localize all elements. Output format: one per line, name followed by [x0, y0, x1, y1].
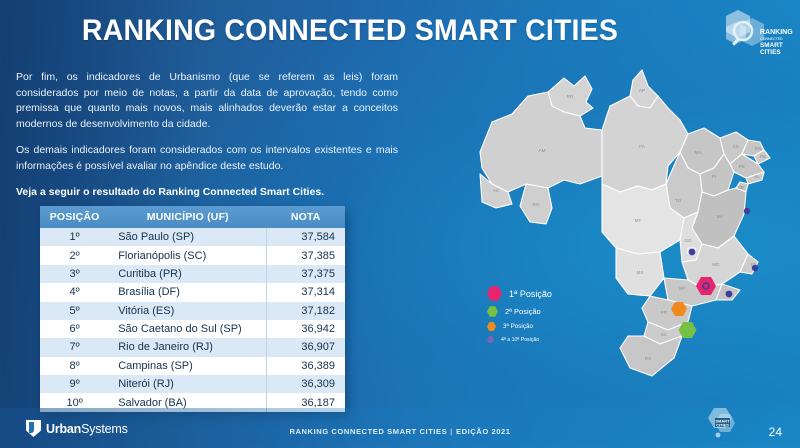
svg-text:RS: RS	[645, 356, 651, 361]
cell-municipio: Brasília (DF)	[109, 283, 266, 301]
smart-cities-badge: SMART CITIES	[702, 404, 742, 444]
table-row: 4ºBrasília (DF)37,314	[40, 283, 345, 301]
svg-text:MG: MG	[712, 262, 720, 267]
paragraph-1: Por fim, os indicadores de Urbanismo (qu…	[16, 70, 398, 132]
header-logo-line3: SMART	[760, 42, 783, 49]
cell-municipio: São Caetano do Sul (SP)	[109, 320, 266, 338]
cell-posicao: 6º	[40, 320, 109, 338]
cell-posicao: 9º	[40, 375, 109, 393]
legend-marker-icon	[487, 336, 494, 343]
cell-nota: 37,182	[266, 302, 345, 320]
legend-item: 4ª a 10ª Posição	[487, 336, 552, 343]
svg-text:PI: PI	[712, 174, 716, 179]
legend-item: 1ª Posição	[487, 286, 552, 301]
svg-text:PE: PE	[739, 164, 745, 169]
column-header-posicao: POSIÇÃO	[40, 206, 109, 228]
slide-root: RANKING CONNECTED SMART CITIES RANKING C…	[0, 0, 800, 448]
table-row: 6ºSão Caetano do Sul (SP)36,942	[40, 320, 345, 338]
cell-nota: 37,314	[266, 283, 345, 301]
brazil-map: RRAP AMPA MACE RNPB PEAL SEPI TOAC ROMT …	[452, 56, 800, 406]
legend-item: 3ª Posição	[487, 322, 552, 331]
table-row: 5ºVitória (ES)37,182	[40, 302, 345, 320]
table-row: 1ºSão Paulo (SP)37,584	[40, 228, 345, 246]
map-legend: 1ª Posição2ª Posição3ª Posição4ª a 10ª P…	[487, 286, 552, 348]
cell-municipio: São Paulo (SP)	[109, 228, 266, 246]
cell-nota: 37,385	[266, 246, 345, 264]
svg-text:MT: MT	[635, 218, 642, 223]
legend-label: 1ª Posição	[509, 289, 552, 299]
legend-marker-icon	[487, 322, 496, 331]
svg-text:PR: PR	[661, 310, 668, 315]
cell-nota: 36,309	[266, 375, 345, 393]
table-header-row: POSIÇÃO MUNICÍPIO (UF) NOTA	[40, 206, 345, 228]
table-row: 7ºRio de Janeiro (RJ)36,907	[40, 338, 345, 356]
svg-text:RR: RR	[567, 94, 574, 99]
footer-edition: EDIÇÃO 2021	[456, 427, 511, 436]
cell-nota: 37,375	[266, 265, 345, 283]
cell-posicao: 5º	[40, 302, 109, 320]
cell-municipio: Campinas (SP)	[109, 357, 266, 375]
svg-text:PB: PB	[760, 154, 766, 159]
table-row: 9ºNiterói (RJ)36,309	[40, 375, 345, 393]
table-body: 1ºSão Paulo (SP)37,5842ºFlorianópolis (S…	[40, 228, 345, 412]
cell-posicao: 7º	[40, 338, 109, 356]
table-row: 3ºCuritiba (PR)37,375	[40, 265, 345, 283]
legend-label: 4ª a 10ª Posição	[501, 337, 539, 343]
svg-text:GO: GO	[684, 238, 692, 243]
footer-logo-line2: CITIES	[716, 422, 729, 427]
cell-posicao: 4º	[40, 283, 109, 301]
cell-posicao: 1º	[40, 228, 109, 246]
marker-vitoria	[752, 265, 758, 271]
page-number: 24	[769, 425, 782, 439]
header-logo-line1: RANKING	[760, 29, 793, 36]
svg-text:SC: SC	[661, 332, 668, 337]
ranking-connected-smart-cities-logo: RANKING CONNECTED SMART CITIES	[718, 6, 794, 60]
body-copy: Por fim, os indicadores de Urbanismo (qu…	[16, 70, 398, 212]
svg-text:TO: TO	[675, 198, 682, 203]
marker-salvador	[744, 208, 750, 214]
table-head: POSIÇÃO MUNICÍPIO (UF) NOTA	[40, 206, 345, 228]
svg-text:CE: CE	[733, 144, 739, 149]
svg-text:AM: AM	[539, 148, 546, 153]
svg-text:PA: PA	[639, 144, 646, 149]
svg-text:RO: RO	[533, 202, 540, 207]
marker-rio-de-janeiro	[726, 291, 733, 298]
svg-text:SE: SE	[738, 185, 744, 190]
header-logo-line4: CITIES	[760, 49, 781, 56]
legend-label: 2ª Posição	[505, 307, 541, 316]
legend-item: 2ª Posição	[487, 306, 552, 317]
cell-posicao: 2º	[40, 246, 109, 264]
header-logo-line2: CONNECTED	[760, 37, 783, 41]
cell-municipio: Florianópolis (SC)	[109, 246, 266, 264]
footer-separator: |	[447, 427, 456, 436]
ranking-table-wrapper: POSIÇÃO MUNICÍPIO (UF) NOTA 1ºSão Paulo …	[40, 206, 345, 412]
svg-text:SP: SP	[679, 286, 685, 291]
cell-municipio: Niterói (RJ)	[109, 375, 266, 393]
cell-municipio: Rio de Janeiro (RJ)	[109, 338, 266, 356]
table-row: 2ºFlorianópolis (SC)37,385	[40, 246, 345, 264]
paragraph-2: Os demais indicadores foram considerados…	[16, 143, 398, 174]
cell-municipio: Curitiba (PR)	[109, 265, 266, 283]
svg-text:RN: RN	[755, 146, 762, 151]
cell-nota: 36,942	[266, 320, 345, 338]
column-header-nota: NOTA	[266, 206, 345, 228]
column-header-municipio: MUNICÍPIO (UF)	[109, 206, 266, 228]
cell-nota: 37,584	[266, 228, 345, 246]
legend-marker-icon	[487, 286, 502, 301]
footer-caption: RANKING CONNECTED SMART CITIES|EDIÇÃO 20…	[0, 427, 800, 436]
ranking-table: POSIÇÃO MUNICÍPIO (UF) NOTA 1ºSão Paulo …	[40, 206, 345, 412]
svg-text:MS: MS	[637, 270, 644, 275]
legend-label: 3ª Posição	[503, 323, 533, 330]
marker-brasilia	[689, 249, 696, 256]
cell-nota: 36,907	[266, 338, 345, 356]
svg-text:AP: AP	[639, 88, 645, 93]
lead-paragraph: Veja a seguir o resultado do Ranking Con…	[16, 185, 398, 201]
svg-text:AC: AC	[493, 188, 500, 193]
cell-posicao: 8º	[40, 357, 109, 375]
footer-title: RANKING CONNECTED SMART CITIES	[289, 427, 447, 436]
svg-text:BA: BA	[717, 214, 724, 219]
legend-marker-icon	[487, 306, 498, 317]
table-row: 8ºCampinas (SP)36,389	[40, 357, 345, 375]
cell-nota: 36,389	[266, 357, 345, 375]
svg-text:AL: AL	[754, 174, 760, 179]
svg-text:MA: MA	[695, 150, 703, 155]
page-title: RANKING CONNECTED SMART CITIES	[18, 14, 683, 48]
cell-municipio: Vitória (ES)	[109, 302, 266, 320]
cell-posicao: 3º	[40, 265, 109, 283]
